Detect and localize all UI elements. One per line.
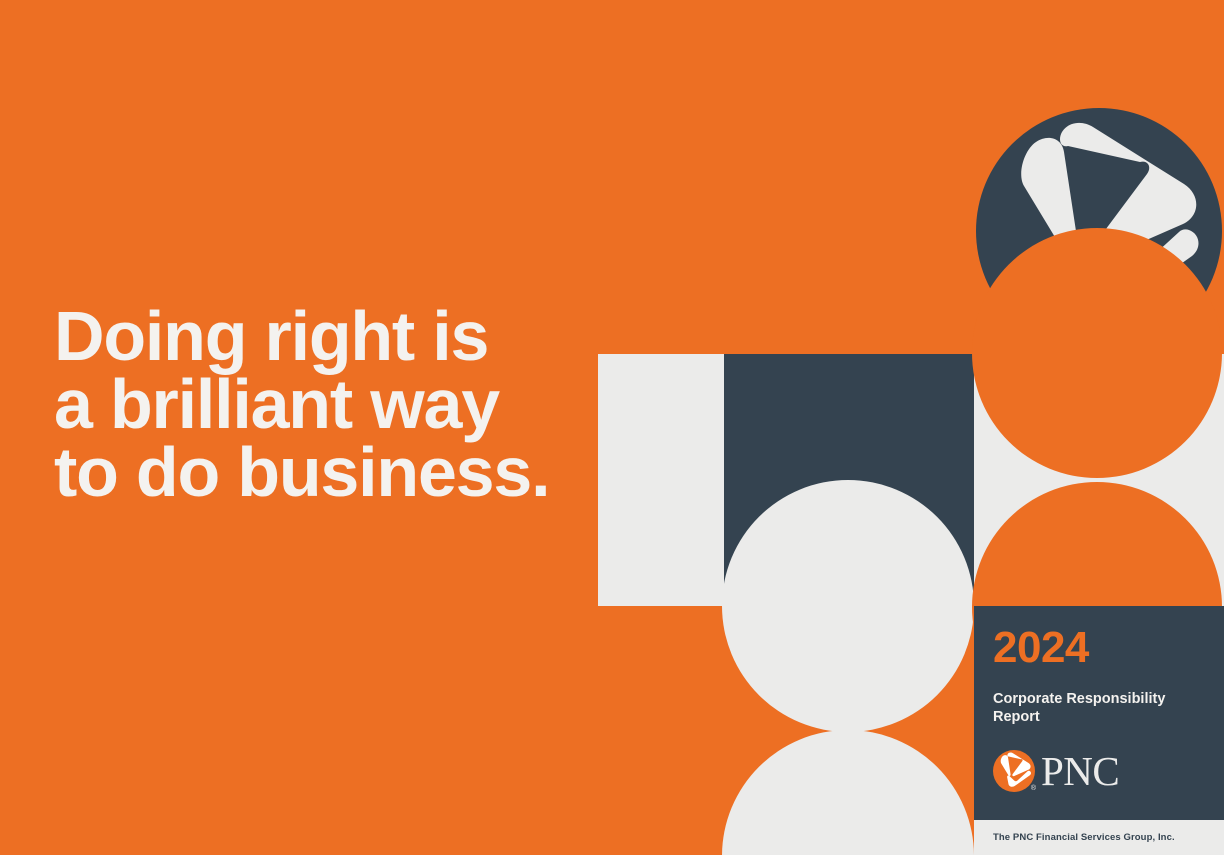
decorative-light-circle-upper (722, 480, 974, 732)
report-cover: Doing right is a brilliant way to do bus… (0, 0, 1224, 855)
report-subtitle: Corporate Responsibility Report (993, 690, 1183, 726)
pnc-wordmark: PNC (1041, 751, 1119, 792)
headline-line-2: a brilliant way (54, 370, 614, 438)
registered-trademark-symbol: ® (1031, 785, 1036, 792)
pnc-pinwheel-logo-icon: ® (993, 750, 1035, 792)
headline-line-3: to do business. (54, 438, 614, 506)
footer-strip: The PNC Financial Services Group, Inc. (974, 820, 1224, 855)
page-title: Doing right is a brilliant way to do bus… (54, 302, 614, 506)
split-circle-light-half (598, 354, 724, 606)
panel-cut-top (972, 228, 1222, 478)
pnc-logo-lockup: ® PNC (993, 750, 1119, 792)
headline-line-1: Doing right is (54, 302, 614, 370)
report-year: 2024 (993, 626, 1224, 670)
legal-entity-name: The PNC Financial Services Group, Inc. (993, 832, 1175, 843)
decorative-light-circle-lower (722, 730, 974, 855)
decorative-light-panel (974, 354, 1224, 606)
